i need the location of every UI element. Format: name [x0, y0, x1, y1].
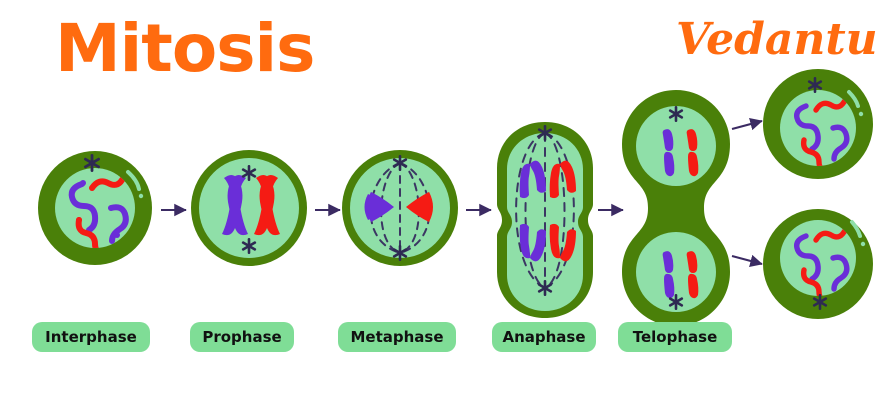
- arrow-telophase-to-daughter-top: [732, 121, 762, 129]
- stage-label-prophase: Prophase: [190, 322, 294, 352]
- cell-metaphase: [342, 150, 458, 266]
- mitosis-diagram: Mitosis Vedantu: [0, 0, 887, 416]
- daughter-cell-bottom: [763, 209, 873, 319]
- stage-label-telophase: Telophase: [618, 322, 732, 352]
- cell-prophase: [191, 150, 307, 266]
- stage-label-interphase: Interphase: [32, 322, 150, 352]
- stage-label-metaphase: Metaphase: [338, 322, 456, 352]
- cell-interphase: [38, 151, 152, 265]
- daughter-cell-top: [763, 69, 873, 179]
- stage-label-anaphase: Anaphase: [492, 322, 596, 352]
- interphase-membrane-highlight-dot: [139, 194, 143, 198]
- cell-anaphase: [497, 122, 593, 318]
- cell-telophase: [622, 90, 730, 326]
- diagram-canvas: [0, 0, 887, 416]
- arrow-telophase-to-daughter-bottom: [732, 256, 762, 264]
